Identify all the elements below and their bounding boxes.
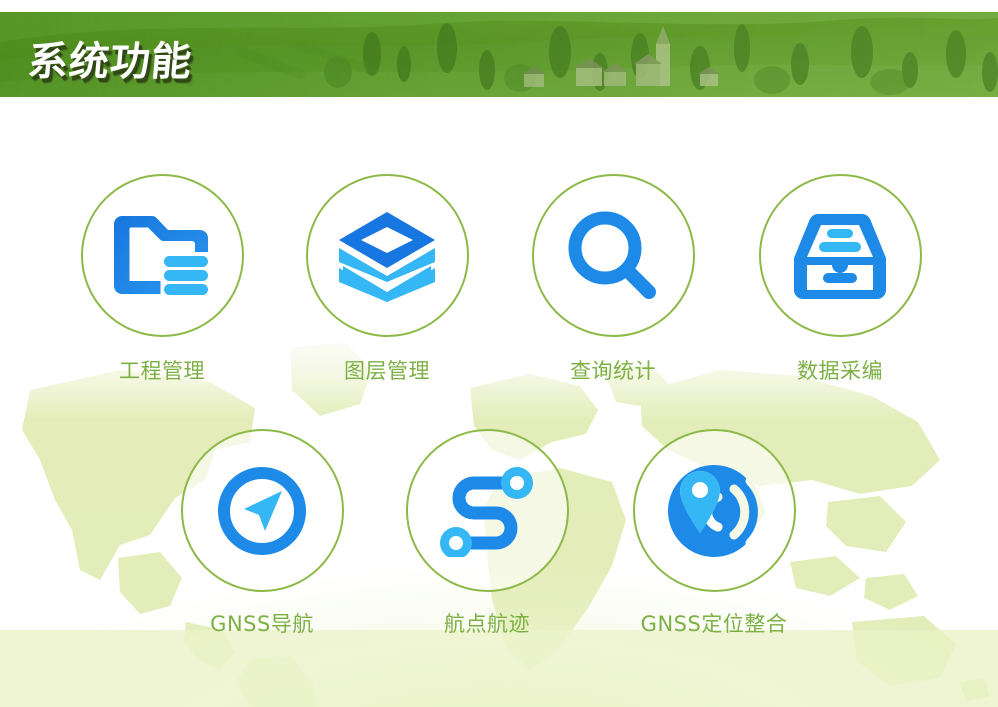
feature-circle xyxy=(406,429,569,592)
feature-label: 数据采编 xyxy=(740,359,940,383)
navigation-arrow-icon xyxy=(216,465,308,557)
feature-item-gnss-positioning-integration[interactable]: GNSS定位整合 xyxy=(614,429,814,636)
layers-icon xyxy=(339,210,435,302)
feature-item-project-management[interactable]: 工程管理 xyxy=(62,174,262,383)
file-drawer-icon xyxy=(794,212,886,300)
feature-grid: 工程管理 图层管理 xyxy=(0,0,998,707)
route-track-icon xyxy=(439,465,535,557)
feature-item-data-editing[interactable]: 数据采编 xyxy=(740,174,940,383)
feature-label: GNSS定位整合 xyxy=(614,612,814,636)
map-pin-signal-icon xyxy=(666,463,762,559)
feature-label: 查询统计 xyxy=(513,359,713,383)
feature-circle xyxy=(532,174,695,337)
feature-label: 工程管理 xyxy=(62,359,262,383)
folder-list-icon xyxy=(114,212,210,300)
feature-label: 航点航迹 xyxy=(387,612,587,636)
feature-label: GNSS导航 xyxy=(162,612,362,636)
feature-circle xyxy=(181,429,344,592)
feature-item-layer-management[interactable]: 图层管理 xyxy=(287,174,487,383)
search-icon xyxy=(567,210,659,302)
feature-item-gnss-navigation[interactable]: GNSS导航 xyxy=(162,429,362,636)
feature-label: 图层管理 xyxy=(287,359,487,383)
system-functions-page: 系统功能 xyxy=(0,0,998,707)
feature-circle xyxy=(759,174,922,337)
feature-circle xyxy=(81,174,244,337)
feature-item-waypoint-track[interactable]: 航点航迹 xyxy=(387,429,587,636)
feature-item-query-statistics[interactable]: 查询统计 xyxy=(513,174,713,383)
feature-circle xyxy=(306,174,469,337)
feature-circle xyxy=(633,429,796,592)
